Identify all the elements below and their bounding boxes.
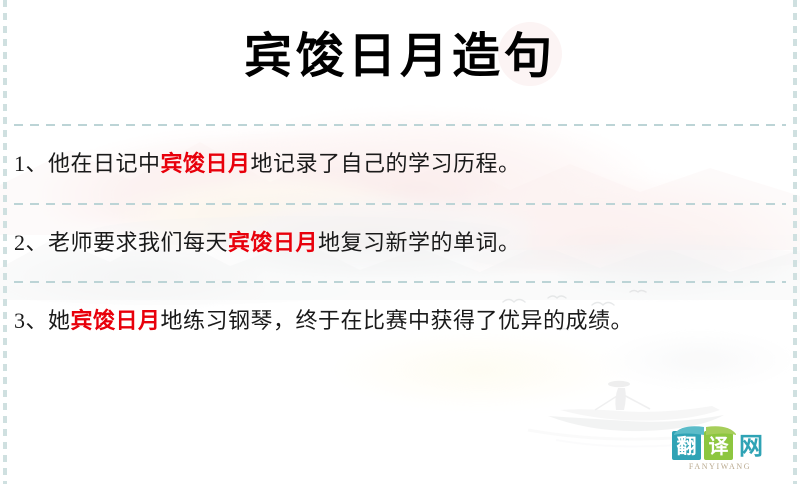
- sentence-index: 2、: [14, 230, 48, 255]
- open-book-icon: [672, 422, 738, 436]
- keyword-highlight: 宾馂日月: [161, 151, 251, 176]
- sentence-text-before: 她: [48, 308, 71, 333]
- sentence-index: 1、: [14, 151, 48, 176]
- sentence-item: 3、她宾馂日月地练习钢琴，终于在比赛中获得了优异的成绩。: [14, 302, 776, 340]
- page-title: 宾馂日月造句: [0, 24, 800, 88]
- sentence-text-after: 地记录了自己的学习历程。: [251, 151, 521, 176]
- sentence-index: 3、: [14, 308, 48, 333]
- keyword-highlight: 宾馂日月: [71, 308, 161, 333]
- sentence-text-after: 地练习钢琴，终于在比赛中获得了优异的成绩。: [161, 308, 634, 333]
- sentence-text-before: 老师要求我们每天: [48, 230, 228, 255]
- sentence-item: 2、老师要求我们每天宾馂日月地复习新学的单词。: [14, 224, 776, 262]
- sentence-item: 1、他在日记中宾馂日月地记录了自己的学习历程。: [14, 145, 776, 183]
- divider-below-title: [14, 124, 786, 126]
- divider-after-sentence-1: [14, 203, 786, 205]
- logo-char-wang: 网: [736, 431, 766, 460]
- divider-after-sentence-2: [14, 281, 786, 283]
- sentence-text-before: 他在日记中: [48, 151, 161, 176]
- content-area: 宾馂日月造句 1、他在日记中宾馂日月地记录了自己的学习历程。 2、老师要求我们每…: [0, 0, 800, 484]
- keyword-highlight: 宾馂日月: [228, 230, 318, 255]
- site-logo[interactable]: 翻 译 网 FANYIWANG: [672, 430, 792, 474]
- page-root: 宾馂日月造句 1、他在日记中宾馂日月地记录了自己的学习历程。 2、老师要求我们每…: [0, 0, 800, 484]
- logo-subtitle: FANYIWANG: [672, 462, 768, 471]
- sentence-text-after: 地复习新学的单词。: [318, 230, 521, 255]
